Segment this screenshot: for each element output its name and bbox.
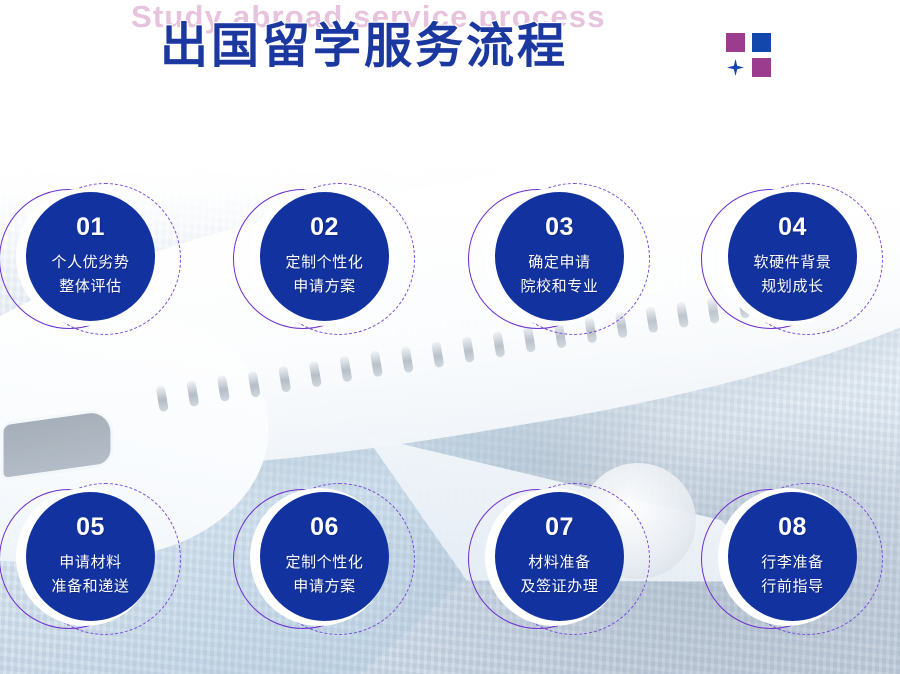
step-label-line-1: 软硬件背景 xyxy=(753,251,831,274)
step-number: 04 xyxy=(778,215,807,240)
step-label-line-2: 准备和递送 xyxy=(51,575,129,598)
step-label-line-2: 行前指导 xyxy=(761,575,823,598)
step-disc[interactable]: 08行李准备行前指导 xyxy=(728,492,857,621)
step-number: 02 xyxy=(310,215,339,240)
process-step-08[interactable]: 08行李准备行前指导 xyxy=(700,478,890,668)
step-label-line-1: 定制个性化 xyxy=(285,551,363,574)
step-label-line-2: 及签证办理 xyxy=(520,575,598,598)
process-step-06[interactable]: 06定制个性化申请方案 xyxy=(232,478,422,668)
step-number: 06 xyxy=(310,515,339,540)
infographic-canvas: Study abroad service process 出国留学服务流程 01… xyxy=(0,0,900,674)
process-step-07[interactable]: 07材料准备及签证办理 xyxy=(467,478,657,668)
step-number: 07 xyxy=(545,515,574,540)
step-number: 05 xyxy=(76,515,105,540)
step-label-line-2: 整体评估 xyxy=(59,275,121,298)
step-label-line-2: 院校和专业 xyxy=(520,275,598,298)
step-disc[interactable]: 07材料准备及签证办理 xyxy=(495,492,624,621)
step-number: 01 xyxy=(76,215,105,240)
step-disc[interactable]: 02定制个性化申请方案 xyxy=(260,192,389,321)
step-disc[interactable]: 05申请材料准备和递送 xyxy=(26,492,155,621)
process-step-03[interactable]: 03确定申请院校和专业 xyxy=(467,178,657,368)
step-label-line-1: 材料准备 xyxy=(528,551,590,574)
step-label-line-1: 行李准备 xyxy=(761,551,823,574)
step-label-line-2: 规划成长 xyxy=(761,275,823,298)
process-step-02[interactable]: 02定制个性化申请方案 xyxy=(232,178,422,368)
process-step-04[interactable]: 04软硬件背景规划成长 xyxy=(700,178,890,368)
step-disc[interactable]: 01个人优劣势整体评估 xyxy=(26,192,155,321)
step-label-line-2: 申请方案 xyxy=(293,575,355,598)
process-steps: 01个人优劣势整体评估02定制个性化申请方案03确定申请院校和专业04软硬件背景… xyxy=(0,0,900,674)
step-disc[interactable]: 03确定申请院校和专业 xyxy=(495,192,624,321)
process-step-01[interactable]: 01个人优劣势整体评估 xyxy=(0,178,188,368)
step-number: 03 xyxy=(545,215,574,240)
step-label-line-1: 定制个性化 xyxy=(285,251,363,274)
step-disc[interactable]: 06定制个性化申请方案 xyxy=(260,492,389,621)
step-number: 08 xyxy=(778,515,807,540)
step-label-line-1: 确定申请 xyxy=(528,251,590,274)
step-label-line-1: 申请材料 xyxy=(59,551,121,574)
step-label-line-1: 个人优劣势 xyxy=(51,251,129,274)
step-disc[interactable]: 04软硬件背景规划成长 xyxy=(728,192,857,321)
step-label-line-2: 申请方案 xyxy=(293,275,355,298)
process-step-05[interactable]: 05申请材料准备和递送 xyxy=(0,478,188,668)
